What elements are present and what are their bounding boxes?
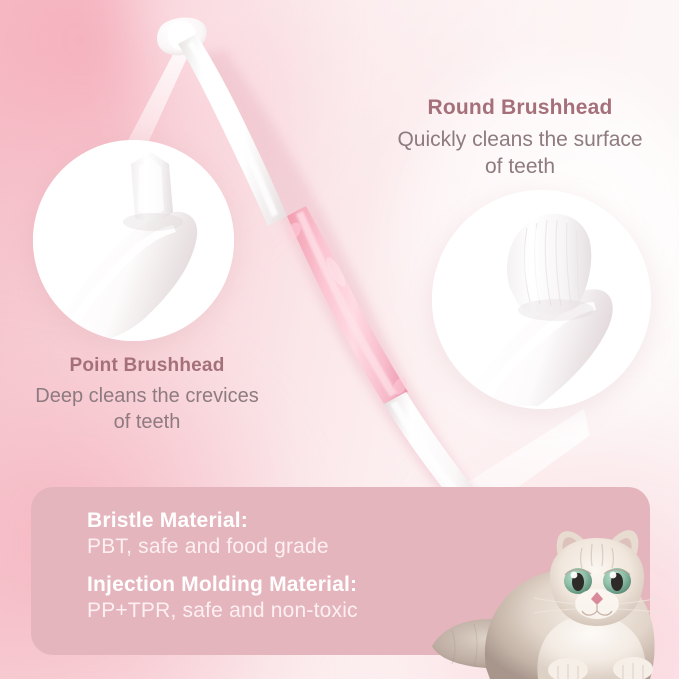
callout-round-brushhead-description-line2: of teeth bbox=[375, 153, 665, 180]
cat-image bbox=[430, 518, 679, 679]
callout-round-brushhead-description-line1: Quickly cleans the surface bbox=[375, 126, 665, 153]
callout-round-brushhead: Round Brushhead Quickly cleans the surfa… bbox=[375, 96, 665, 181]
round-brushhead-zoom-image bbox=[432, 190, 651, 409]
callout-point-brushhead-description-line2: of teeth bbox=[2, 409, 292, 435]
point-brushhead-zoom-image bbox=[33, 140, 234, 341]
callout-point-brushhead: Point Brushhead Deep cleans the crevices… bbox=[2, 355, 292, 435]
round-brushhead-zoom-circle bbox=[432, 190, 651, 409]
brush-handle bbox=[287, 206, 408, 404]
callout-point-brushhead-description: Deep cleans the crevices of teeth bbox=[2, 383, 292, 435]
callout-round-brushhead-description: Quickly cleans the surface of teeth bbox=[375, 126, 665, 181]
product-infographic: Round Brushhead Quickly cleans the surfa… bbox=[0, 0, 679, 679]
point-brushhead-zoom-circle bbox=[33, 140, 234, 341]
callout-round-brushhead-title: Round Brushhead bbox=[375, 96, 665, 120]
callout-point-brushhead-description-line1: Deep cleans the crevices bbox=[2, 383, 292, 409]
brush-handle-highlight bbox=[296, 211, 397, 397]
zoom-point-bristle-highlight bbox=[138, 158, 164, 214]
cat-muzzle bbox=[575, 589, 619, 619]
callout-point-brushhead-title: Point Brushhead bbox=[2, 355, 292, 377]
